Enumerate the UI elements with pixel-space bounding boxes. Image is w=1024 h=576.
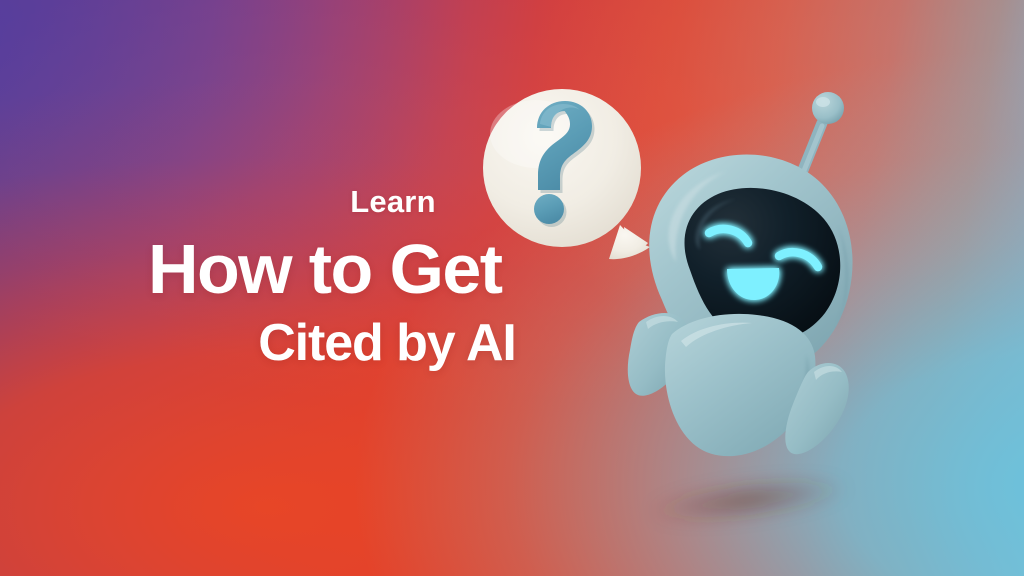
hero-banner: Learn How to Get Cited by AI [0, 0, 1024, 576]
headline-block: Learn How to Get Cited by AI [148, 186, 618, 370]
subheadline-text: Cited by AI [148, 316, 618, 370]
eyebrow-text: Learn [148, 186, 618, 217]
headline-text: How to Get [148, 234, 618, 305]
